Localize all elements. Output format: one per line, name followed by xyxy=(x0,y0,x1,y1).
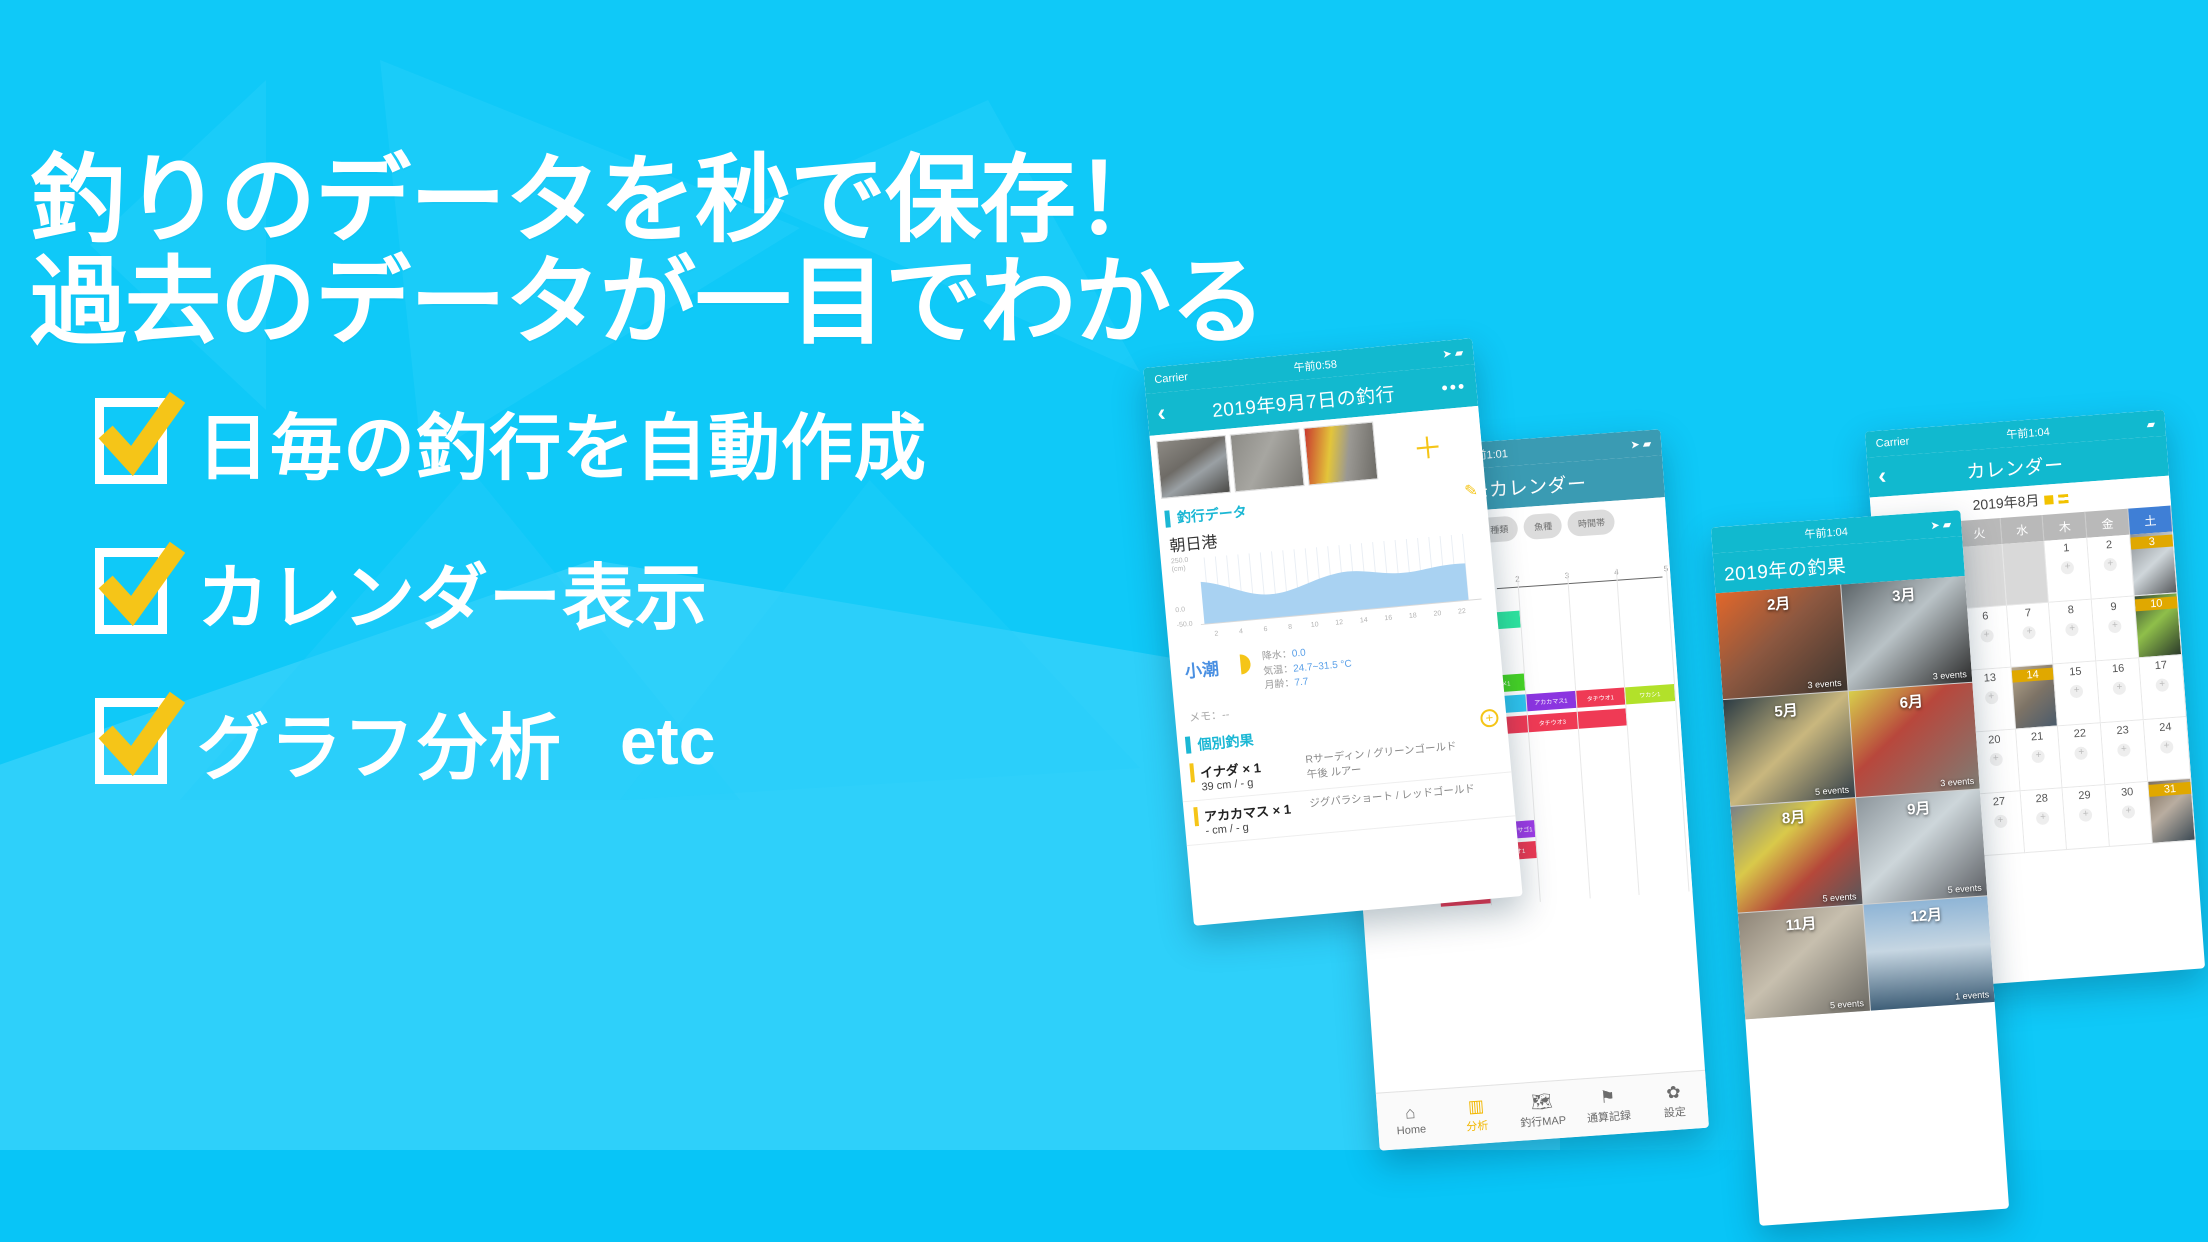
photo-thumbnail[interactable] xyxy=(1303,422,1378,486)
tab-分析[interactable]: ▥分析 xyxy=(1442,1085,1512,1146)
calendar-day[interactable]: 27+ xyxy=(1977,791,2024,856)
check-mark-icon xyxy=(92,541,188,637)
calendar-day-number: 7 xyxy=(2007,606,2050,621)
pencil-icon[interactable]: ✎ xyxy=(1463,480,1478,501)
month-tile[interactable]: 11月5 events xyxy=(1738,905,1870,1019)
section-title: 個別釣果 xyxy=(1197,729,1255,754)
month-event-count: 5 events xyxy=(1947,883,1982,895)
calendar-day-number: 15 xyxy=(2054,664,2097,679)
calendar-day-number: 2 xyxy=(2088,538,2131,553)
tide-x-tick: 12 xyxy=(1335,619,1343,627)
flag-icon: ⚑ xyxy=(1599,1088,1615,1106)
tab-label: 分析 xyxy=(1466,1117,1489,1134)
month-label: 2月 xyxy=(1716,589,1842,619)
month-label: 3月 xyxy=(1841,580,1967,610)
checkbox-checked-icon xyxy=(95,398,167,484)
month-tile[interactable]: 12月1 events xyxy=(1863,896,1995,1010)
month-tile[interactable]: 8月5 events xyxy=(1730,798,1862,912)
tab-label: 釣行MAP xyxy=(1520,1111,1567,1130)
calendar-add-icon[interactable]: + xyxy=(1989,753,2003,767)
moon-phase-icon xyxy=(1230,654,1252,676)
tide-x-tick: 22 xyxy=(1458,608,1466,616)
moonage-value: 7.7 xyxy=(1294,676,1309,688)
calendar-day[interactable]: 3 xyxy=(2130,531,2177,596)
calendar-weekday: 木 xyxy=(2043,512,2088,541)
calendar-day[interactable]: 16+ xyxy=(2097,658,2144,723)
calendar-add-icon[interactable]: + xyxy=(2061,561,2075,575)
headline-line-1: 釣りのデータを秒で保存！ xyxy=(30,147,1170,254)
tide-x-tick: 14 xyxy=(1360,617,1368,625)
tide-x-tick: 8 xyxy=(1288,624,1293,631)
month-event-count: 3 events xyxy=(1940,776,1975,788)
tab-通算記録[interactable]: ⚑通算記録 xyxy=(1573,1075,1643,1136)
headline-line-2: 過去のデータが一目でわかる xyxy=(30,252,1380,354)
phone-screenshot-trip-detail: Carrier 午前0:58 ➤ ▰ ‹ 2019年9月7日の釣行 ••• ＋ … xyxy=(1143,338,1522,926)
battery-icon: ➤ ▰ xyxy=(1442,346,1464,361)
tide-x-tick: 6 xyxy=(1263,626,1268,633)
calendar-add-icon[interactable]: + xyxy=(2065,623,2079,637)
calendar-day[interactable]: 20+ xyxy=(1973,729,2020,794)
feature-item-0: 日毎の釣行を自動作成 xyxy=(95,375,1095,507)
battery-icon: ▰ xyxy=(2146,417,2155,431)
status-time: 午前1:04 xyxy=(1804,523,1848,542)
month-label: 11月 xyxy=(1738,909,1864,939)
photo-thumbnail[interactable] xyxy=(1230,428,1305,492)
calendar-day-number: 29 xyxy=(2063,788,2106,803)
tide-x-tick: 18 xyxy=(1409,612,1417,620)
calendar-day-number: 13 xyxy=(1969,671,2012,686)
calendar-day[interactable]: 10 xyxy=(2135,593,2182,658)
check-mark-icon xyxy=(92,391,188,487)
calendar-day-number: 1 xyxy=(2045,541,2088,556)
tab-Home[interactable]: ⌂Home xyxy=(1376,1089,1446,1150)
calendar-add-icon[interactable]: + xyxy=(2122,805,2136,819)
chart-bar-segment[interactable]: タチウオ1 xyxy=(1575,687,1626,707)
calendar-add-icon[interactable]: + xyxy=(2070,684,2084,698)
checkbox-checked-icon xyxy=(95,698,167,784)
calendar-day[interactable]: 29+ xyxy=(2063,785,2110,850)
calendar-day-number: 30 xyxy=(2106,785,2149,800)
month-event-count: 5 events xyxy=(1815,785,1850,797)
month-tile[interactable]: 6月3 events xyxy=(1848,683,1980,797)
calendar-day[interactable]: 23+ xyxy=(2101,720,2148,785)
tab-label: Home xyxy=(1396,1123,1426,1137)
calendar-day-number: 22 xyxy=(2059,726,2102,741)
calendar-day[interactable]: 9+ xyxy=(2092,596,2139,661)
calendar-day[interactable]: 21+ xyxy=(2016,726,2063,791)
photo-thumbnail[interactable] xyxy=(1156,435,1231,499)
plus-circle-icon[interactable]: + xyxy=(1480,708,1500,728)
calendar-add-icon[interactable]: + xyxy=(2074,746,2088,760)
tab-設定[interactable]: ✿設定 xyxy=(1639,1071,1709,1132)
nav-title: 2019年の釣果 xyxy=(1723,551,1847,586)
status-time: 午前0:58 xyxy=(1293,356,1338,376)
calendar-add-icon[interactable]: + xyxy=(2032,749,2046,763)
tab-釣行MAP[interactable]: 🗺釣行MAP xyxy=(1508,1080,1578,1141)
month-label: 9月 xyxy=(1856,793,1982,823)
month-tile[interactable]: 5月5 events xyxy=(1723,691,1855,805)
calendar-day[interactable]: 17+ xyxy=(2139,655,2186,720)
month-label: 12月 xyxy=(1863,900,1989,930)
battery-icon: ➤ ▰ xyxy=(1630,437,1652,451)
filter-chip[interactable]: 時間帯 xyxy=(1567,509,1616,537)
tide-yzero-label: 0.0 xyxy=(1175,606,1185,614)
feature-label: グラフ分析 xyxy=(197,689,562,794)
map-icon: 🗺 xyxy=(1530,1092,1553,1110)
calendar-day[interactable]: 22+ xyxy=(2058,723,2105,788)
tide-x-tick: 10 xyxy=(1311,621,1319,629)
temp-label: 気温： xyxy=(1263,663,1294,677)
tide-ymin-label: -50.0 xyxy=(1176,621,1193,629)
calendar-add-icon[interactable]: + xyxy=(2155,678,2169,692)
calendar-month-label: 2019年8月 xyxy=(1972,490,2040,515)
calendar-day-number: 28 xyxy=(2020,791,2063,806)
tide-unit-label: (cm) xyxy=(1171,565,1186,573)
check-mark-icon xyxy=(92,691,188,787)
moonage-label: 月齢： xyxy=(1264,678,1295,692)
carrier-label: Carrier xyxy=(1875,436,1909,450)
chart-bar-segment[interactable]: アカカマス1 xyxy=(1526,691,1577,711)
catch-info: アカカマス × 1- cm / - g xyxy=(1193,798,1303,839)
calendar-day[interactable]: 15+ xyxy=(2054,661,2101,726)
tide-type-label: 小潮 xyxy=(1184,655,1220,683)
calendar-weekday: 金 xyxy=(2086,509,2131,538)
tab-label: 設定 xyxy=(1663,1103,1686,1120)
calendar-day-number: 6 xyxy=(1964,609,2007,624)
month-tile[interactable]: 2月3 events xyxy=(1715,585,1847,699)
month-event-count: 1 events xyxy=(1955,989,1990,1001)
month-label: 5月 xyxy=(1723,695,1849,725)
checkbox-checked-icon xyxy=(95,548,167,634)
month-tile[interactable]: 9月5 events xyxy=(1856,789,1988,903)
nav-title: カレンダー xyxy=(1965,450,2064,484)
feature-item-1: カレンダー表示 xyxy=(95,525,1095,657)
calendar-day[interactable]: 30+ xyxy=(2106,782,2153,847)
calendar-day-number: 14 xyxy=(2011,668,2054,683)
plus-icon[interactable]: ＋ xyxy=(1378,419,1478,472)
calendar-day-number: 9 xyxy=(2092,599,2135,614)
calendar-day-number: 27 xyxy=(1978,794,2021,809)
calendar-add-icon[interactable]: + xyxy=(2108,619,2122,633)
catch-info: イナダ × 139 cm / - g xyxy=(1189,753,1299,794)
more-horizontal-icon[interactable]: ••• xyxy=(1440,375,1467,398)
feature-label: 日毎の釣行を自動作成 xyxy=(197,389,927,494)
month-event-count: 5 events xyxy=(1822,891,1857,903)
chart-bar-segment[interactable]: ワカシ1 xyxy=(1624,684,1675,704)
feature-extra: etc xyxy=(620,703,715,779)
calendar-day-number: 8 xyxy=(2050,603,2093,618)
calendar-day[interactable]: 8+ xyxy=(2049,600,2096,665)
calendar-day[interactable]: 28+ xyxy=(2020,788,2067,853)
month-event-count: 5 events xyxy=(1830,998,1865,1010)
calendar-add-icon[interactable]: + xyxy=(2023,626,2037,640)
tide-x-tick: 4 xyxy=(1239,628,1244,635)
calendar-day[interactable]: 14 xyxy=(2011,665,2058,730)
chevron-left-icon[interactable]: ‹ xyxy=(1156,399,1167,428)
month-label: 6月 xyxy=(1848,687,1974,717)
calendar-day[interactable]: 1+ xyxy=(2045,538,2092,603)
calendar-add-icon[interactable]: + xyxy=(2079,808,2093,822)
calendar-day[interactable]: 6+ xyxy=(1964,606,2011,671)
calendar-day[interactable]: 13+ xyxy=(1968,668,2015,733)
bar-chart-icon: ▥ xyxy=(1467,1097,1484,1115)
calendar-weekday: 火 xyxy=(1957,518,2002,547)
feature-item-2: グラフ分析 etc xyxy=(95,675,1095,807)
rain-value: 0.0 xyxy=(1291,648,1306,660)
tide-x-tick: 20 xyxy=(1433,610,1441,618)
tide-ymax-label: 250.0 xyxy=(1171,557,1189,566)
calendar-add-icon[interactable]: + xyxy=(2036,811,2050,825)
status-time: 午前1:04 xyxy=(2006,423,2050,442)
calendar-day[interactable]: 7+ xyxy=(2007,603,2054,668)
carrier-label: Carrier xyxy=(1154,371,1189,386)
tide-x-tick: 2 xyxy=(1214,630,1219,637)
home-icon: ⌂ xyxy=(1405,1104,1416,1122)
feature-list: 日毎の釣行を自動作成 カレンダー表示 グラフ分析 etc xyxy=(95,375,1095,825)
month-tile[interactable]: 3月3 events xyxy=(1841,576,1973,690)
calendar-day-number: 10 xyxy=(2135,596,2178,611)
calendar-day-number: 20 xyxy=(1973,733,2016,748)
calendar-add-icon[interactable]: + xyxy=(1980,629,1994,643)
month-event-count: 3 events xyxy=(1932,669,1967,681)
calendar-weekday: 水 xyxy=(2000,515,2045,544)
calendar-day-number: 3 xyxy=(2131,535,2174,550)
calendar-add-icon[interactable]: + xyxy=(2117,743,2131,757)
calendar-weekday: 土 xyxy=(2128,506,2173,535)
promo-banner: 釣りのデータを秒で保存！ 過去のデータが一目でわかる 日毎の釣行を自動作成 カレ… xyxy=(0,0,2208,1242)
calendar-view-list-icon[interactable] xyxy=(2058,494,2069,504)
calendar-day[interactable]: 24+ xyxy=(2144,717,2191,782)
calendar-day-number: 24 xyxy=(2144,720,2187,735)
calendar-add-icon[interactable]: + xyxy=(1984,691,1998,705)
calendar-add-icon[interactable]: + xyxy=(1993,814,2007,828)
month-event-count: 3 events xyxy=(1807,678,1842,690)
tide-x-tick: 16 xyxy=(1384,615,1392,623)
month-label: 8月 xyxy=(1731,802,1857,832)
phone-screenshot-year-results: 午前1:04 ➤ ▰ 2019年の釣果 2月3 events3月3 events… xyxy=(1711,510,2009,1226)
calendar-day-number: 17 xyxy=(2140,658,2183,673)
calendar-day-number: 16 xyxy=(2097,661,2140,676)
calendar-day[interactable]: 31 xyxy=(2148,779,2195,844)
calendar-add-icon[interactable]: + xyxy=(2160,740,2174,754)
calendar-day[interactable]: 2+ xyxy=(2088,535,2135,600)
battery-icon: ➤ ▰ xyxy=(1930,517,1952,531)
tab-label: 通算記録 xyxy=(1586,1107,1631,1126)
calendar-view-grid-icon[interactable] xyxy=(2044,495,2054,505)
calendar-day-blank xyxy=(2002,541,2049,606)
month-grid: 2月3 events3月3 events5月5 events6月3 events… xyxy=(1715,576,1994,1019)
calendar-add-icon[interactable]: + xyxy=(2113,681,2127,695)
section-accent-bar xyxy=(1185,736,1192,753)
calendar-add-icon[interactable]: + xyxy=(2104,558,2118,572)
gear-icon: ✿ xyxy=(1666,1083,1681,1101)
chevron-left-icon[interactable]: ‹ xyxy=(1877,462,1887,491)
section-accent-bar xyxy=(1164,510,1171,527)
calendar-day-number: 23 xyxy=(2101,723,2144,738)
calendar-day-number: 21 xyxy=(2016,729,2059,744)
filter-chip[interactable]: 魚種 xyxy=(1523,512,1563,540)
feature-label: カレンダー表示 xyxy=(197,539,708,644)
rain-label: 降水： xyxy=(1261,649,1292,663)
weather-summary: 降水：0.0 気温：24.7~31.5 °C 月齢：7.7 xyxy=(1261,643,1353,694)
calendar-day-number: 31 xyxy=(2149,782,2192,797)
